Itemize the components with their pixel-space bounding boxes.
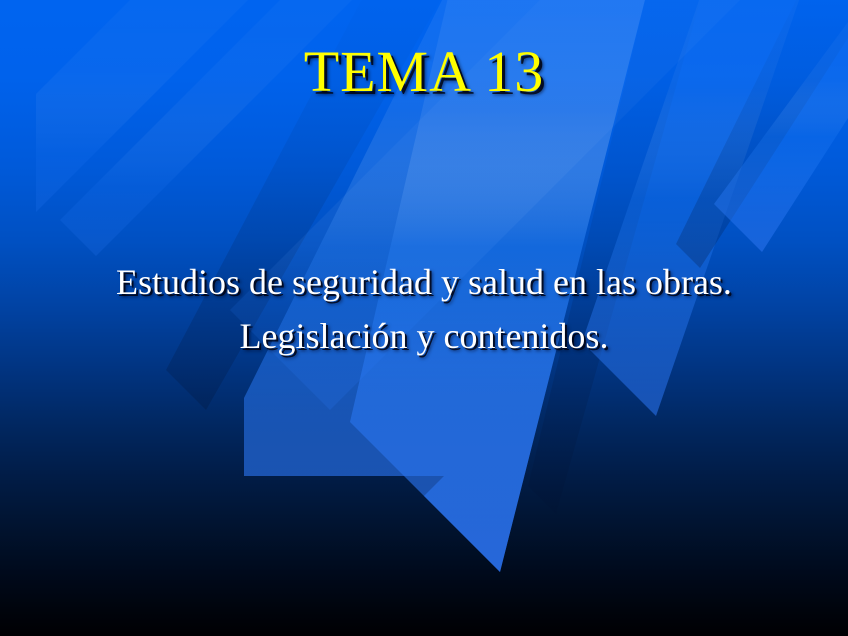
- slide-text-layer: TEMA 13 Estudios de seguridad y salud en…: [0, 0, 848, 636]
- slide-title: TEMA 13: [0, 42, 848, 103]
- body-line-1: Estudios de seguridad y salud en las obr…: [0, 258, 848, 306]
- presentation-slide: TEMA 13 Estudios de seguridad y salud en…: [0, 0, 848, 636]
- slide-body-text: Estudios de seguridad y salud en las obr…: [0, 258, 848, 360]
- body-line-2: Legislación y contenidos.: [0, 312, 848, 360]
